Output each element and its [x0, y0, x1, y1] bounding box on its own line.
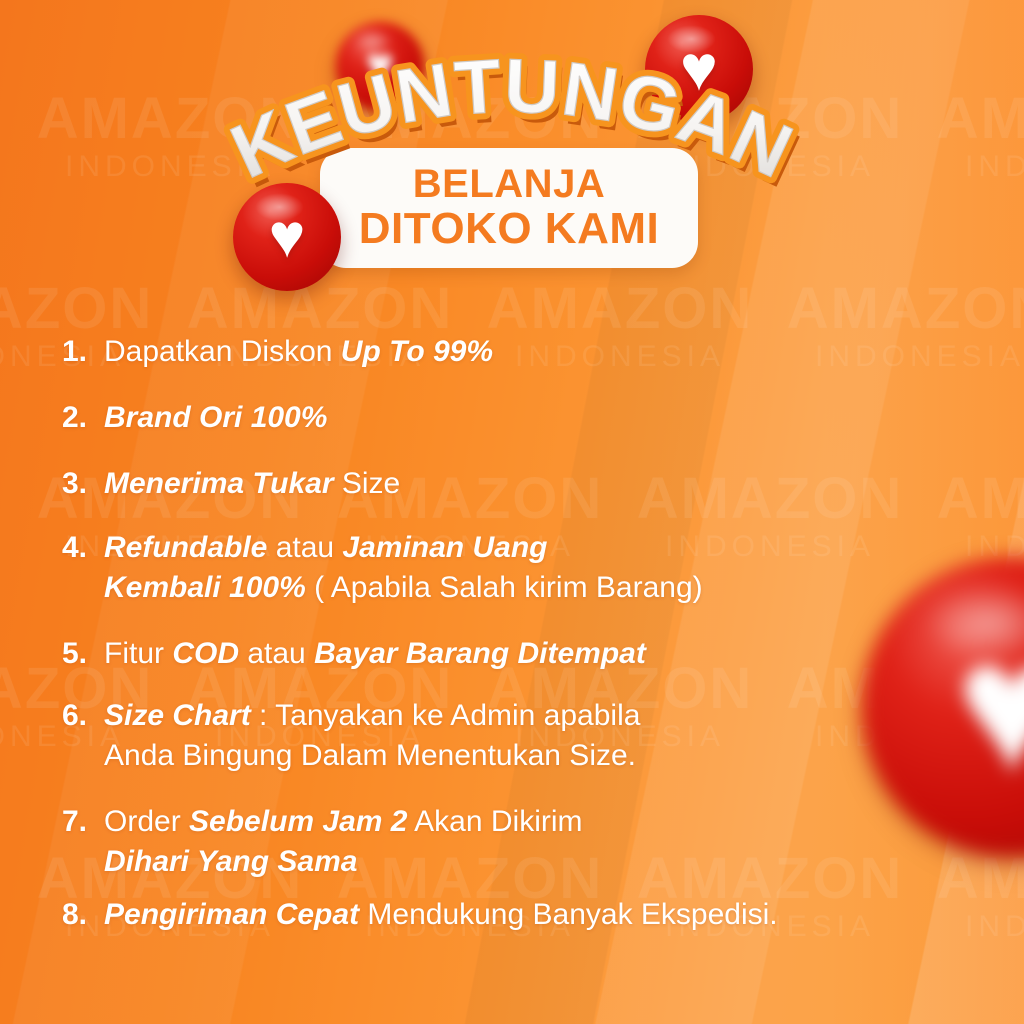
benefit-plain: atau [239, 637, 314, 670]
poster-header: ♥ ♥ BELANJA DITOKO KAMI [0, 0, 1024, 310]
benefit-emphasis: Brand Ori 100% [104, 401, 327, 434]
benefit-text: Size Chart : Tanyakan ke Admin apabilaAn… [104, 696, 640, 775]
benefit-item: 8.Pengiriman Cepat Mendukung Banyak Eksp… [62, 895, 778, 935]
benefit-text: Refundable atau Jaminan UangKembali 100%… [104, 528, 703, 607]
subtitle-line-2: DITOKO KAMI [359, 206, 659, 252]
benefit-plain: Fitur [104, 637, 172, 670]
benefit-item: 1.Dapatkan Diskon Up To 99% [62, 332, 493, 372]
benefit-item: 5.Fitur COD atau Bayar Barang Ditempat [62, 634, 646, 674]
heart-icon: ♥ [680, 40, 718, 98]
benefit-emphasis: Pengiriman Cepat [104, 898, 359, 931]
arched-title: KEUNTUNGAN KEUNTUNGAN KEUNTUNGAN KEUNTUN… [0, 58, 1024, 188]
benefit-text: Pengiriman Cepat Mendukung Banyak Eksped… [104, 895, 778, 935]
benefit-plain: atau [267, 531, 342, 564]
benefit-item: 6.Size Chart : Tanyakan ke Admin apabila… [62, 696, 640, 775]
benefit-number: 2. [62, 398, 104, 438]
promo-poster: AMAZONINDONESIAAMAZONINDONESIAAMAZONINDO… [0, 0, 1024, 1024]
benefit-emphasis: COD [172, 637, 239, 670]
benefit-plain: Dapatkan Diskon [104, 335, 341, 368]
benefit-number: 8. [62, 895, 104, 935]
heart-balloon-mid-left: ♥ [233, 183, 341, 291]
benefit-plain: : Tanyakan ke Admin apabila [251, 699, 641, 732]
benefit-item: 3.Menerima Tukar Size [62, 464, 400, 504]
benefit-text: Brand Ori 100% [104, 398, 327, 438]
benefit-emphasis: Bayar Barang Ditempat [314, 637, 646, 670]
heart-icon: ♥ [956, 622, 1024, 793]
benefit-item: 7.Order Sebelum Jam 2 Akan DikirimDihari… [62, 802, 583, 881]
benefit-text: Menerima Tukar Size [104, 464, 400, 504]
benefit-number: 1. [62, 332, 104, 372]
benefit-emphasis: Dihari Yang Sama [104, 845, 357, 878]
benefit-emphasis: Jaminan Uang [342, 531, 547, 564]
benefit-text: Dapatkan Diskon Up To 99% [104, 332, 493, 372]
benefit-emphasis: Size Chart [104, 699, 251, 732]
heart-icon: ♥ [269, 209, 306, 265]
benefit-plain: ( Apabila Salah kirim Barang) [306, 571, 703, 604]
benefit-emphasis: Kembali 100% [104, 571, 306, 604]
benefit-plain: Akan Dikirim [407, 805, 582, 838]
benefit-text: Fitur COD atau Bayar Barang Ditempat [104, 634, 646, 674]
benefit-plain: Mendukung Banyak Ekspedisi. [359, 898, 778, 931]
benefit-emphasis: Sebelum Jam 2 [189, 805, 407, 838]
benefit-plain: Anda Bingung Dalam Menentukan Size. [104, 739, 636, 772]
benefit-number: 7. [62, 802, 104, 842]
benefit-number: 5. [62, 634, 104, 674]
benefit-item: 2.Brand Ori 100% [62, 398, 327, 438]
benefit-number: 6. [62, 696, 104, 736]
benefit-text: Order Sebelum Jam 2 Akan DikirimDihari Y… [104, 802, 583, 881]
benefit-emphasis: Up To 99% [341, 335, 493, 368]
benefit-plain: Order [104, 805, 189, 838]
benefit-number: 4. [62, 528, 104, 568]
benefit-number: 3. [62, 464, 104, 504]
benefit-item: 4.Refundable atau Jaminan UangKembali 10… [62, 528, 703, 607]
benefit-emphasis: Refundable [104, 531, 267, 564]
benefit-emphasis: Menerima Tukar [104, 467, 334, 500]
benefit-plain: Size [334, 467, 401, 500]
